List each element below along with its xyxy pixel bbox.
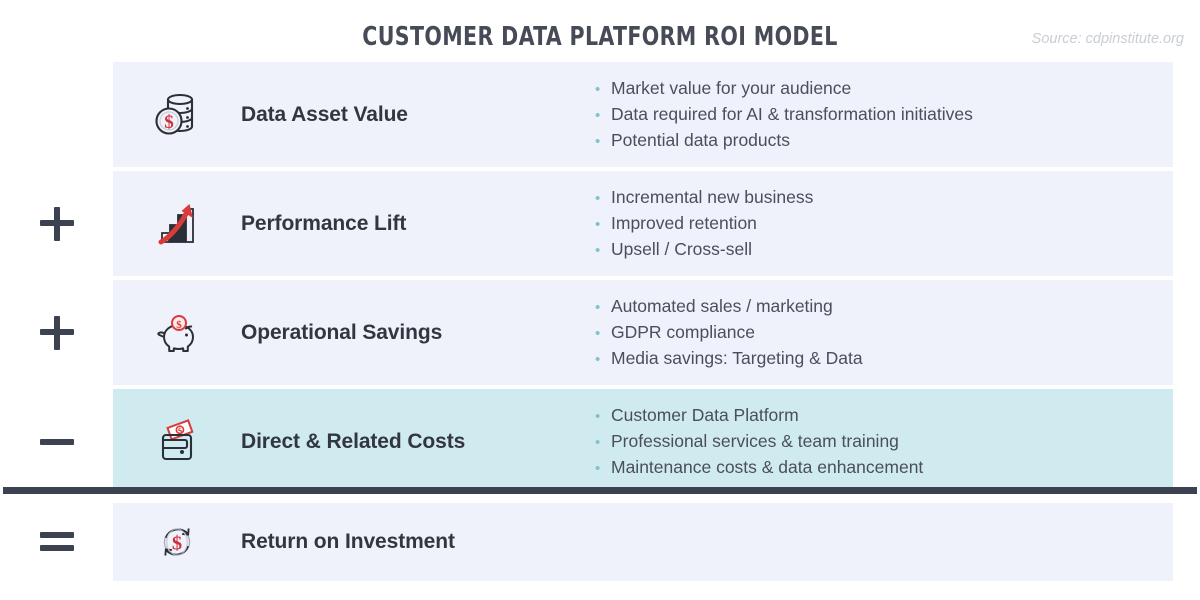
return-on-investment-cycle-icon: $ [113, 515, 241, 569]
row-bullets: • Incremental new business • Improved re… [591, 185, 1173, 263]
list-item: • Media savings: Targeting & Data [595, 346, 1173, 372]
row-bullets: • Customer Data Platform • Professional … [591, 403, 1173, 481]
operator-cell [0, 389, 113, 494]
list-item: • Data required for AI & transformation … [595, 102, 1173, 128]
list-item: • GDPR compliance [595, 320, 1173, 346]
list-item: • Incremental new business [595, 185, 1173, 211]
row-label: Performance Lift [241, 212, 406, 236]
growth-chart-arrow-icon [113, 195, 241, 253]
bullet-dot-icon: • [595, 321, 611, 346]
sum-divider [3, 487, 1197, 494]
row-band: $ Data Asset Value • Market value for yo… [113, 62, 1173, 167]
row-label: Data Asset Value [241, 103, 408, 127]
row-label-cell: Return on Investment [241, 530, 591, 554]
svg-text:$: $ [176, 319, 182, 331]
row-label: Operational Savings [241, 321, 442, 345]
row-label-cell: Direct & Related Costs [241, 430, 591, 454]
operator-cell [0, 171, 113, 276]
roi-component-rows: $ Data Asset Value • Market value for yo… [0, 62, 1200, 498]
bullet-dot-icon: • [595, 129, 611, 154]
equals-icon [40, 532, 74, 552]
header: Customer Data Platform ROI Model Source:… [0, 0, 1200, 62]
list-item: • Potential data products [595, 128, 1173, 154]
bullet-dot-icon: • [595, 77, 611, 102]
operator-cell [0, 62, 113, 167]
operator-cell [0, 503, 113, 581]
row-label: Direct & Related Costs [241, 430, 465, 454]
bullet-dot-icon: • [595, 430, 611, 455]
bullet-dot-icon: • [595, 404, 611, 429]
bullet-dot-icon: • [595, 238, 611, 263]
row-bullets: • Market value for your audience • Data … [591, 76, 1173, 154]
row-label-cell: Operational Savings [241, 321, 591, 345]
row-band: $ Operational Savings • Automated sales … [113, 280, 1173, 385]
roi-row-operational-savings: $ Operational Savings • Automated sales … [0, 280, 1200, 385]
svg-text:$: $ [172, 532, 182, 554]
list-item: • Automated sales / marketing [595, 294, 1173, 320]
roi-row-direct-related-costs: $ Direct & Related Costs • [0, 389, 1200, 494]
bullet-dot-icon: • [595, 186, 611, 211]
bullet-dot-icon: • [595, 456, 611, 481]
list-item: • Market value for your audience [595, 76, 1173, 102]
minus-icon [40, 439, 74, 445]
row-band: $ Return on Investment [113, 503, 1173, 581]
operator-cell [0, 280, 113, 385]
row-label-cell: Data Asset Value [241, 103, 591, 127]
list-item: • Improved retention [595, 211, 1173, 237]
bullet-dot-icon: • [595, 295, 611, 320]
row-label-cell: Performance Lift [241, 212, 591, 236]
roi-model-infographic: Customer Data Platform ROI Model Source:… [0, 0, 1200, 600]
svg-text:$: $ [164, 112, 174, 133]
plus-icon [40, 316, 74, 350]
roi-row-performance-lift: Performance Lift • Incremental new busin… [0, 171, 1200, 276]
bullet-dot-icon: • [595, 103, 611, 128]
list-item: • Maintenance costs & data enhancement [595, 455, 1173, 481]
database-coin-icon: $ [113, 86, 241, 144]
row-band: Performance Lift • Incremental new busin… [113, 171, 1173, 276]
plus-icon [40, 207, 74, 241]
roi-row-return-on-investment: $ Return on Investment [0, 503, 1200, 581]
source-attribution: Source: cdpinstitute.org [1032, 31, 1184, 47]
roi-row-data-asset-value: $ Data Asset Value • Market value for yo… [0, 62, 1200, 167]
list-item: • Upsell / Cross-sell [595, 237, 1173, 263]
row-band: $ Direct & Related Costs • [113, 389, 1173, 494]
list-item: • Customer Data Platform [595, 403, 1173, 429]
bullet-dot-icon: • [595, 212, 611, 237]
wallet-cash-icon: $ [113, 413, 241, 471]
row-label: Return on Investment [241, 530, 455, 554]
page-title: Customer Data Platform ROI Model [72, 22, 1128, 52]
row-bullets: • Automated sales / marketing • GDPR com… [591, 294, 1173, 372]
list-item: • Professional services & team training [595, 429, 1173, 455]
piggy-bank-icon: $ [113, 304, 241, 362]
bullet-dot-icon: • [595, 347, 611, 372]
